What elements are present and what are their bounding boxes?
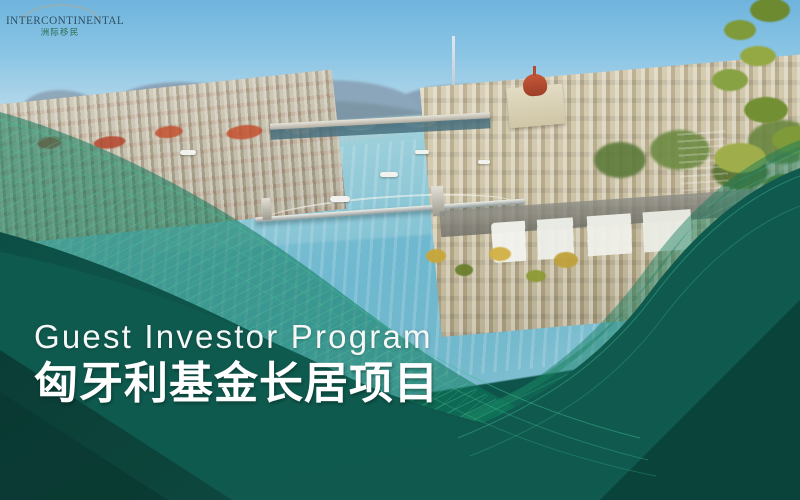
background-photo	[0, 0, 800, 500]
chain-bridge-pylon-west	[261, 198, 272, 221]
river-boat	[380, 172, 398, 177]
hero-banner: INTERCONTINENTAL 洲际移民 Guest Investor Pro…	[0, 0, 800, 500]
parliament-dome	[522, 73, 548, 97]
river-boat	[415, 150, 429, 154]
logo-chinese-name: 洲际移民	[6, 26, 114, 38]
headline-chinese: 匈牙利基金长居项目	[34, 360, 439, 408]
river-boat	[330, 196, 350, 202]
tree-branch	[700, 0, 800, 240]
headline-block: Guest Investor Program 匈牙利基金长居项目	[34, 318, 439, 408]
headline-english: Guest Investor Program	[34, 318, 439, 356]
intercontinental-logo[interactable]: INTERCONTINENTAL 洲际移民	[6, 4, 114, 36]
river-boat	[478, 160, 490, 164]
river-boat	[180, 150, 196, 155]
parliament-spire	[533, 66, 536, 76]
foreground-foliage	[416, 236, 596, 306]
